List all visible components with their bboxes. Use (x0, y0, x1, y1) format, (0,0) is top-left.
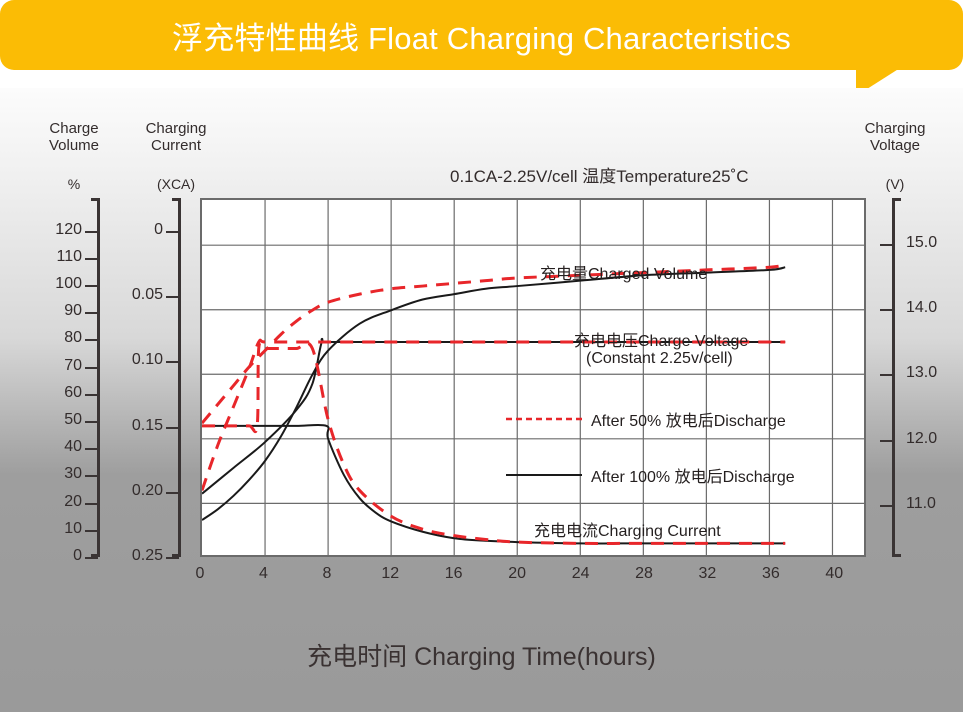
x-tick-label-4: 4 (241, 565, 285, 583)
charging-current-tick-mark-0.25 (166, 557, 179, 559)
charge-volume-tick-label-70: 70 (30, 357, 82, 375)
charge-volume-tick-label-80: 80 (30, 329, 82, 347)
x-axis-caption: 充电时间 Charging Time(hours) (0, 637, 963, 673)
charge-volume-tick-label-0: 0 (30, 547, 82, 565)
right-axis-title-charging-voltage: Charging Voltage (840, 120, 950, 154)
charging-voltage-tick-label-11.0: 11.0 (906, 495, 954, 513)
legend-label-after-100: After 100% 放电后Discharge (591, 463, 795, 487)
charge-volume-tick-label-100: 100 (30, 275, 82, 293)
charge-volume-axis-cap-top (91, 198, 100, 201)
x-tick-label-24: 24 (559, 565, 603, 583)
charging-current-tick-label-0.10: 0.10 (108, 351, 163, 369)
charging-current-tick-mark-0.15 (166, 427, 179, 429)
x-tick-label-12: 12 (368, 565, 412, 583)
legend-item-after-50: After 50% 放电后Discharge (506, 407, 786, 431)
voltage-axis-title-line2: Voltage (870, 137, 920, 154)
legend-label-after-50: After 50% 放电后Discharge (591, 407, 786, 431)
curves-svg (202, 200, 864, 555)
charging-current-tick-mark-0.10 (166, 361, 179, 363)
legend-swatch-dashed (506, 415, 582, 423)
voltage-axis-title-line1: Charging (865, 120, 926, 137)
charge-volume-tick-mark-10 (85, 530, 98, 532)
charge-volume-tick-mark-50 (85, 421, 98, 423)
charging-voltage-tick-label-12.0: 12.0 (906, 430, 954, 448)
charging-voltage-tick-label-15.0: 15.0 (906, 234, 954, 252)
charging-voltage-tick-mark-12.0 (880, 440, 893, 442)
legend-swatch-solid (506, 471, 582, 479)
charge-volume-tick-mark-20 (85, 503, 98, 505)
charge-volume-tick-mark-40 (85, 448, 98, 450)
charge-volume-tick-mark-110 (85, 258, 98, 260)
charging-voltage-tick-mark-14.0 (880, 309, 893, 311)
charge-volume-tick-label-30: 30 (30, 465, 82, 483)
x-tick-label-8: 8 (305, 565, 349, 583)
float-charging-characteristics-page: 浮充特性曲线 Float Charging Characteristics Ch… (0, 0, 963, 712)
charge-volume-tick-label-20: 20 (30, 493, 82, 511)
charging-current-tick-label-0.20: 0.20 (108, 482, 163, 500)
charging-voltage-tick-mark-15.0 (880, 244, 893, 246)
charge-volume-tick-label-40: 40 (30, 438, 82, 456)
x-tick-label-36: 36 (749, 565, 793, 583)
x-tick-label-0: 0 (178, 565, 222, 583)
page-title: 浮充特性曲线 Float Charging Characteristics (0, 0, 963, 70)
charging-current-tick-mark-0.05 (166, 296, 179, 298)
left-axis-unit-percent: % (22, 176, 126, 192)
annotation-charged-volume: 充电量Charged Volume (540, 260, 707, 284)
chart-condition-note: 0.1CA-2.25V/cell 温度Temperature25˚C (450, 162, 749, 187)
charging-current-axis-spine (178, 198, 181, 557)
x-tick-label-16: 16 (432, 565, 476, 583)
charging-current-tick-label-0.05: 0.05 (108, 286, 163, 304)
charge-volume-tick-mark-100 (85, 285, 98, 287)
left-axis-title-line2: Volume (49, 137, 99, 154)
left-axis-unit-xca: (XCA) (124, 176, 228, 192)
x-tick-label-20: 20 (495, 565, 539, 583)
charging-current-tick-label-0.15: 0.15 (108, 417, 163, 435)
charge-volume-tick-mark-70 (85, 367, 98, 369)
charge-volume-tick-mark-120 (85, 231, 98, 233)
charge-volume-tick-mark-60 (85, 394, 98, 396)
charge-volume-tick-label-10: 10 (30, 520, 82, 538)
charge-volume-tick-label-110: 110 (30, 248, 82, 266)
right-axis-unit-volt: (V) (840, 176, 950, 192)
chart-figure: Charge Volume % Charging Current (XCA) C… (0, 88, 963, 712)
charging-current-tick-mark-0.20 (166, 492, 179, 494)
plot-area (200, 198, 866, 557)
charge-volume-tick-label-60: 60 (30, 384, 82, 402)
charge-volume-tick-mark-0 (85, 557, 98, 559)
charging-voltage-axis-spine (892, 198, 895, 557)
charging-current-tick-mark-0 (166, 231, 179, 233)
charge-volume-tick-mark-80 (85, 339, 98, 341)
charging-voltage-axis-cap-bottom (892, 554, 901, 557)
charging-voltage-tick-label-13.0: 13.0 (906, 364, 954, 382)
x-tick-label-40: 40 (812, 565, 856, 583)
charging-voltage-tick-label-14.0: 14.0 (906, 299, 954, 317)
charging-voltage-axis-cap-top (892, 198, 901, 201)
charge-volume-tick-label-90: 90 (30, 302, 82, 320)
curve-series-5 (202, 343, 785, 544)
charge-volume-tick-mark-90 (85, 312, 98, 314)
legend-item-after-100: After 100% 放电后Discharge (506, 463, 795, 487)
annotation-charge-voltage-line2: (Constant 2.25v/cell) (586, 350, 733, 368)
x-tick-label-32: 32 (685, 565, 729, 583)
charging-current-axis-cap-top (172, 198, 181, 201)
left-axis-title-charging-current: Charging Current (124, 120, 228, 154)
current-axis-title-line1: Charging (146, 120, 207, 137)
annotation-charge-voltage-line1: 充电电压Charge Voltage (574, 327, 748, 351)
charging-current-tick-label-0: 0 (108, 221, 163, 239)
charge-volume-tick-label-120: 120 (30, 221, 82, 239)
charging-voltage-tick-mark-13.0 (880, 374, 893, 376)
charge-volume-tick-mark-30 (85, 475, 98, 477)
x-tick-label-28: 28 (622, 565, 666, 583)
current-axis-title-line2: Current (151, 137, 201, 154)
charge-volume-tick-label-50: 50 (30, 411, 82, 429)
annotation-charging-current: 充电电流Charging Current (534, 517, 721, 541)
charging-current-tick-label-0.25: 0.25 (108, 547, 163, 565)
left-axis-title-charge-volume: Charge Volume (22, 120, 126, 154)
left-axis-title-line1: Charge (49, 120, 98, 137)
charging-voltage-tick-mark-11.0 (880, 505, 893, 507)
